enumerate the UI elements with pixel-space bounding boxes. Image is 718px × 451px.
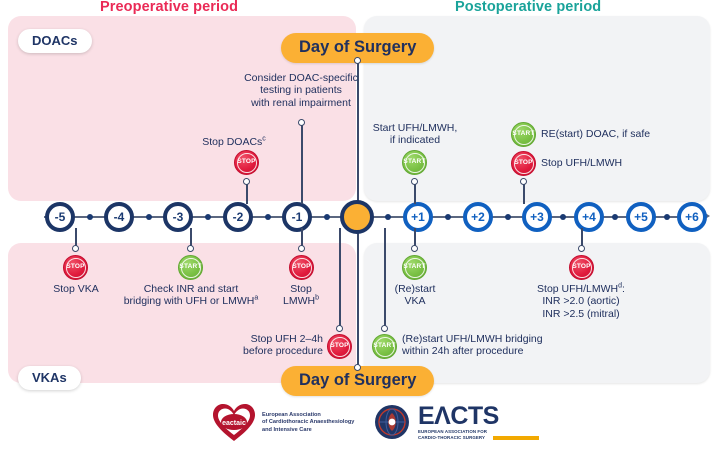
consider-doac-testing-label: Consider DOAC-specific testing in patien… xyxy=(206,72,396,109)
start-ufh-lmwh-label: Start UFH/LMWH, if indicated xyxy=(360,122,470,147)
start-ufh-lmwh-marker: START xyxy=(402,150,427,175)
timeline-node-plus1[interactable]: +1 xyxy=(403,202,433,232)
start-glyph: START xyxy=(405,153,425,173)
stop-glyph: STOP xyxy=(514,154,534,174)
check-inr-bridging-marker: START xyxy=(178,255,203,280)
stop-glyph: STOP xyxy=(292,258,312,278)
connector-ring-stop-lmwh xyxy=(298,245,305,252)
timeline-node-minus5[interactable]: -5 xyxy=(45,202,75,232)
timeline-node-minus2[interactable]: -2 xyxy=(223,202,253,232)
timeline-node-minus4[interactable]: -4 xyxy=(104,202,134,232)
timeline-midpoint-dot xyxy=(445,214,451,220)
eacts-logo: EΛCTS EUROPEAN ASSOCIATION FOR CARDIO-TH… xyxy=(374,404,539,440)
timeline-midpoint-dot xyxy=(87,214,93,220)
timeline-midpoint-dot xyxy=(324,214,330,220)
postoperative-period-title: Postoperative period xyxy=(455,0,601,15)
connector-ring-stop-doacs xyxy=(243,178,250,185)
stop-glyph: STOP xyxy=(237,153,257,173)
stop-vka-label: Stop VKA xyxy=(30,283,122,295)
timeline-node-minus1[interactable]: -1 xyxy=(282,202,312,232)
surgery-guide-ring-bottom xyxy=(354,364,361,371)
eacta-logo: eactaic European Association of Cardioth… xyxy=(212,403,354,443)
stop-glyph: STOP xyxy=(66,258,86,278)
stop-glyph: STOP xyxy=(330,337,350,357)
timeline-midpoint-dot xyxy=(265,214,271,220)
vkas-row-label: VKAs xyxy=(18,366,81,390)
stop-glyph: STOP xyxy=(572,258,592,278)
eacts-wordmark: EΛCTS xyxy=(418,404,539,429)
check-inr-bridging-label: Check INR and start bridging with UFH or… xyxy=(110,283,272,308)
timeline-node-plus6[interactable]: +6 xyxy=(677,202,707,232)
restart-ufh-lmwh-bridging-label: (Re)start UFH/LMWH bridging within 24h a… xyxy=(402,333,592,358)
stop-ufh-lmwh-label: Stop UFH/LMWH xyxy=(541,157,711,169)
stop-ufh-lmwh-inr-label: Stop UFH/LMWHd: INR >2.0 (aortic) INR >2… xyxy=(496,283,666,320)
stop-ufh-2-4h-label: Stop UFH 2–4h before procedure xyxy=(205,333,323,358)
timeline-node-plus3[interactable]: +3 xyxy=(522,202,552,232)
connector-ring-stop-vka xyxy=(72,245,79,252)
eacts-wordmark-block: EΛCTS EUROPEAN ASSOCIATION FOR CARDIO-TH… xyxy=(418,404,539,440)
start-glyph: START xyxy=(405,258,425,278)
stop-lmwh-marker: STOP xyxy=(289,255,314,280)
connector-ring-consider-testing xyxy=(298,119,305,126)
restart-vka-marker: START xyxy=(402,255,427,280)
restart-vka-label: (Re)start VKA xyxy=(376,283,454,308)
connector-ring-stop-ufh-inr xyxy=(578,245,585,252)
stop-lmwh-label: Stop LMWHb xyxy=(268,283,334,308)
svg-text:eactaic: eactaic xyxy=(222,420,246,427)
stop-ufh-2-4h-marker: STOP xyxy=(327,334,352,359)
doacs-row-label: DOACs xyxy=(18,29,92,53)
eacts-subtitle: EUROPEAN ASSOCIATION FOR CARDIO-THORACIC… xyxy=(418,429,487,440)
timeline-node-plus5[interactable]: +5 xyxy=(626,202,656,232)
connector-ring-stop-ufh-2-4h xyxy=(336,325,343,332)
timeline-midpoint-dot xyxy=(505,214,511,220)
connector-consider-testing xyxy=(301,122,303,204)
stop-doacs-marker: STOP xyxy=(234,150,259,175)
connector-restart-bridging xyxy=(384,228,386,326)
timeline-midpoint-dot xyxy=(146,214,152,220)
preoperative-period-title: Preoperative period xyxy=(100,0,238,15)
timeline-axis xyxy=(44,216,704,218)
timeline-midpoint-dot xyxy=(205,214,211,220)
connector-ring-restart-doac xyxy=(520,178,527,185)
stop-doacs-label: Stop DOACsc xyxy=(186,136,282,148)
timeline-midpoint-dot xyxy=(560,214,566,220)
eacta-name: European Association of Cardiothoracic A… xyxy=(262,412,354,434)
connector-ring-restart-bridging xyxy=(381,325,388,332)
start-glyph: START xyxy=(514,125,534,145)
connector-ring-restart-vka xyxy=(411,245,418,252)
start-glyph: START xyxy=(375,337,395,357)
infographic-canvas: Preoperative period Postoperative period… xyxy=(0,0,718,451)
timeline-node-surgery[interactable] xyxy=(340,200,374,234)
timeline-node-plus2[interactable]: +2 xyxy=(463,202,493,232)
eacts-accent-bar xyxy=(493,436,539,440)
restart-doac-label: RE(start) DOAC, if safe xyxy=(541,128,711,140)
surgery-guide-ring-top xyxy=(354,57,361,64)
timeline-midpoint-dot xyxy=(612,214,618,220)
eacta-heart-icon: eactaic xyxy=(212,403,256,443)
surgery-guide-line-bottom xyxy=(357,228,359,368)
footer-logos: eactaic European Association of Cardioth… xyxy=(0,398,718,451)
timeline-midpoint-dot xyxy=(385,214,391,220)
stop-ufh-lmwh-marker: STOP xyxy=(511,151,536,176)
connector-ring-check-inr xyxy=(187,245,194,252)
restart-ufh-lmwh-bridging-marker: START xyxy=(372,334,397,359)
start-glyph: START xyxy=(181,258,201,278)
stop-ufh-lmwh-inr-marker: STOP xyxy=(569,255,594,280)
stop-vka-marker: STOP xyxy=(63,255,88,280)
timeline-node-minus3[interactable]: -3 xyxy=(163,202,193,232)
eacts-globe-icon xyxy=(374,404,410,440)
timeline-midpoint-dot xyxy=(664,214,670,220)
timeline-node-plus4[interactable]: +4 xyxy=(574,202,604,232)
restart-doac-marker: START xyxy=(511,122,536,147)
connector-ring-start-ufh xyxy=(411,178,418,185)
connector-stop-ufh-2-4h xyxy=(339,228,341,326)
